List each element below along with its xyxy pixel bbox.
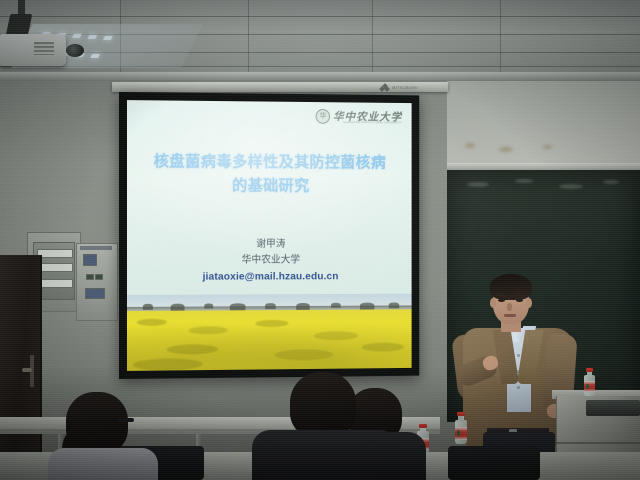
screen-brand-text: MITSUBISHI <box>392 85 418 90</box>
three-diamond-icon <box>380 84 389 91</box>
projector-bracket <box>6 14 33 36</box>
bottle-label-mark <box>586 384 589 389</box>
slide-canola-field-photo <box>127 294 412 371</box>
presenter-mouth <box>504 314 516 317</box>
university-logo-subtitle: HUAZHONG AGRICULTURAL UNIVERSITY <box>344 121 403 124</box>
control-panel <box>76 243 118 321</box>
slide-title-line1: 核盘菌病毒多样性及其防控菌核病 <box>127 150 412 175</box>
projector-lens <box>66 44 84 57</box>
ceiling-projector <box>0 34 66 66</box>
presenter-nose <box>507 303 512 311</box>
wall-beam <box>0 72 640 81</box>
slide-email: jiataoxie@mail.hzau.edu.cn <box>127 269 412 287</box>
chair-back-right <box>448 446 540 480</box>
slide-presenter-block: 谢甲涛 华中农业大学 jiataoxie@mail.hzau.edu.cn <box>127 237 412 286</box>
slide-presenter-name: 谢甲涛 <box>127 237 412 253</box>
right-desk <box>536 452 640 480</box>
head <box>66 392 128 454</box>
slide-affiliation: 华中农业大学 <box>127 253 412 270</box>
shoulders <box>48 448 158 480</box>
projected-slide: 华 华中农业大学 HUAZHONG AGRICULTURAL UNIVERSIT… <box>127 100 412 371</box>
wall-above-chalkboard <box>447 81 640 165</box>
water-bottle-desk-right <box>455 412 467 444</box>
door-handle[interactable] <box>22 368 32 372</box>
lectern-control-panel[interactable] <box>586 400 640 416</box>
university-seal-icon: 华 <box>316 108 331 123</box>
torso <box>252 430 398 480</box>
lecture-hall-photo: MITSUBISHI 华 华中农业大学 HUAZHONG AGRICULTURA… <box>0 0 640 480</box>
university-logo: 华 华中农业大学 HUAZHONG AGRICULTURAL UNIVERSIT… <box>316 108 403 125</box>
photo-rapeseed-field <box>127 309 412 371</box>
glasses-icon <box>118 418 134 422</box>
slide-title-line2: 的基础研究 <box>127 174 412 198</box>
water-bottle-lectern <box>584 368 595 396</box>
panel-brand-label <box>80 246 112 250</box>
lectern-edge <box>556 442 640 444</box>
projection-screen-frame: 华 华中农业大学 HUAZHONG AGRICULTURAL UNIVERSIT… <box>119 92 419 379</box>
ceiling <box>0 0 640 78</box>
slide-title: 核盘菌病毒多样性及其防控菌核病 的基础研究 <box>127 150 412 198</box>
head <box>290 372 356 438</box>
screen-brand-logo: MITSUBISHI <box>380 84 444 91</box>
projector-vent <box>34 42 54 55</box>
